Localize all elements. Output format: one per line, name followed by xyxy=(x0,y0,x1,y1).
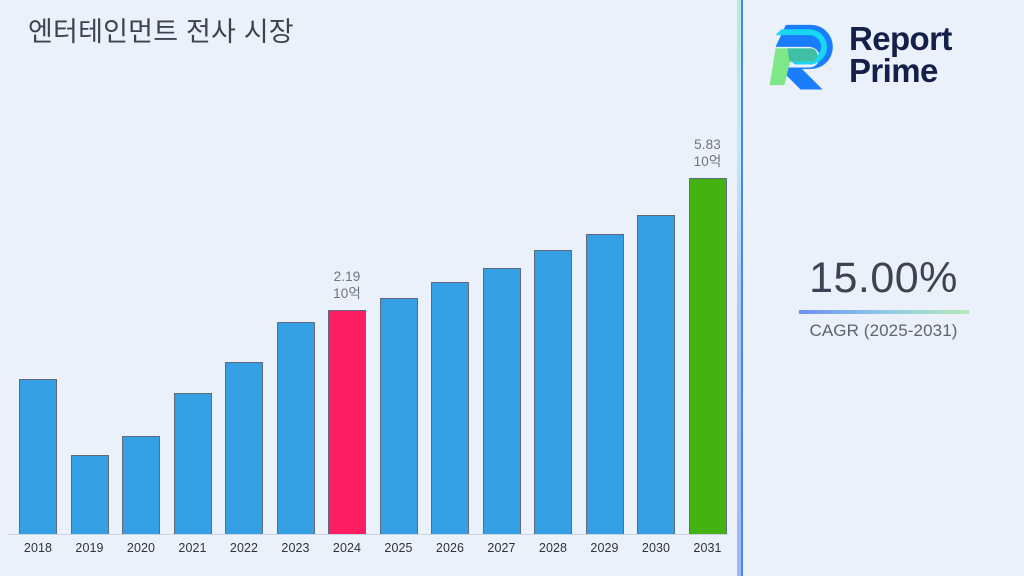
x-tick-2026: 2026 xyxy=(423,541,477,555)
x-tick-2027: 2027 xyxy=(475,541,529,555)
x-tick-2028: 2028 xyxy=(526,541,580,555)
x-axis-tick-labels: 2018201920202021202220232024202520262027… xyxy=(0,0,737,576)
x-tick-2022: 2022 xyxy=(217,541,271,555)
x-tick-2019: 2019 xyxy=(63,541,117,555)
x-tick-2025: 2025 xyxy=(372,541,426,555)
cagr-caption: CAGR (2025-2031) xyxy=(743,321,1024,341)
brand-logo: Report Prime xyxy=(765,14,1015,96)
brand-line-2: Prime xyxy=(849,55,952,87)
cagr-divider-rule xyxy=(799,310,969,314)
side-panel: Report Prime 15.00% CAGR (2025-2031) xyxy=(743,0,1024,576)
x-tick-2018: 2018 xyxy=(11,541,65,555)
x-tick-2020: 2020 xyxy=(114,541,168,555)
chart-screenshot: 엔터테인먼트 전사 시장 2.1910억5.8310억 201820192020… xyxy=(0,0,1024,576)
cagr-value: 15.00% xyxy=(743,252,1024,304)
x-tick-2024: 2024 xyxy=(320,541,374,555)
x-tick-2029: 2029 xyxy=(578,541,632,555)
x-tick-2030: 2030 xyxy=(629,541,683,555)
cagr-block: 15.00% CAGR (2025-2031) xyxy=(743,252,1024,341)
brand-line-1: Report xyxy=(849,23,952,55)
brand-wordmark: Report Prime xyxy=(849,23,952,88)
x-tick-2031: 2031 xyxy=(681,541,735,555)
chart-panel: 엔터테인먼트 전사 시장 2.1910억5.8310억 201820192020… xyxy=(0,0,737,576)
x-tick-2021: 2021 xyxy=(166,541,220,555)
report-prime-logo-icon xyxy=(765,19,839,91)
x-tick-2023: 2023 xyxy=(269,541,323,555)
